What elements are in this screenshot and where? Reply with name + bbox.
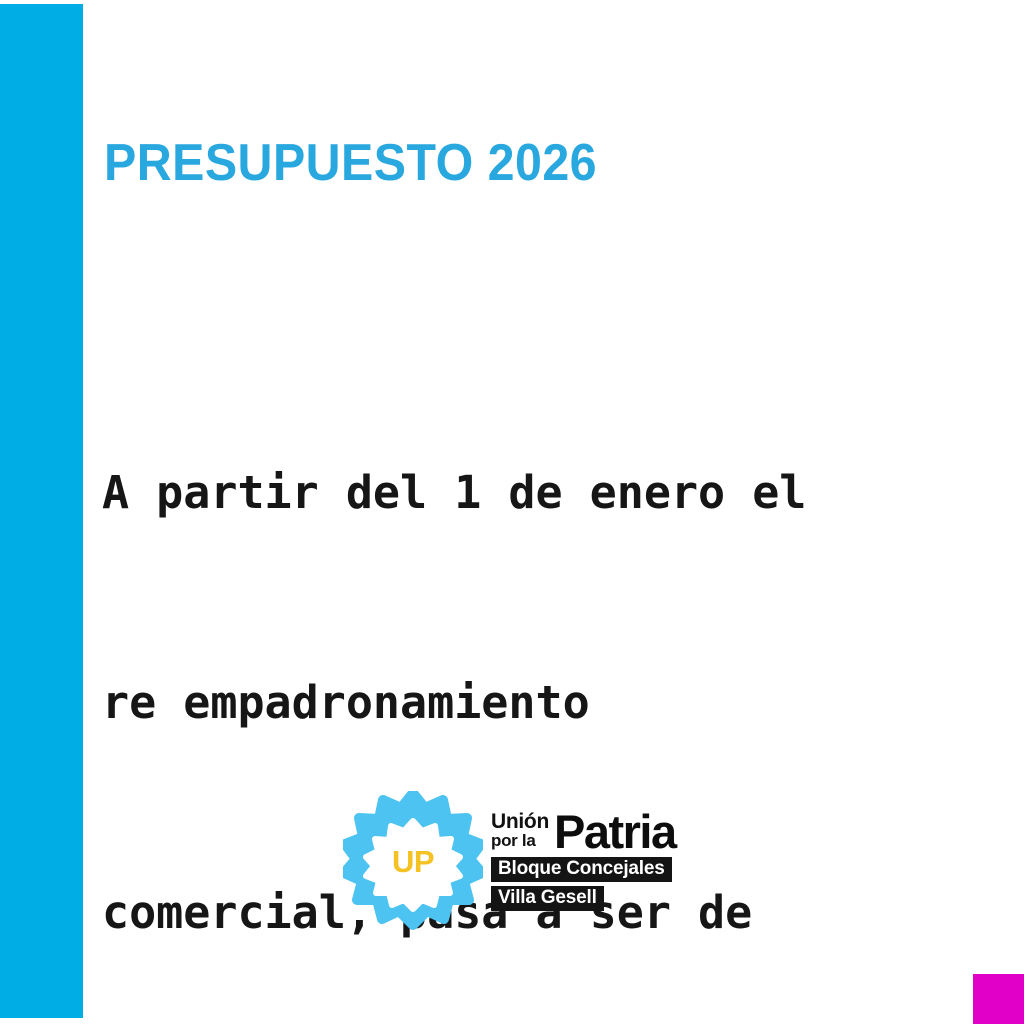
- page-title: PRESUPUESTO 2026: [104, 137, 597, 189]
- poster-canvas: PRESUPUESTO 2026 A partir del 1 de enero…: [0, 0, 1024, 1024]
- wordmark-top-row: Unión por la Patria: [491, 811, 676, 853]
- villa-gesell-bar: Villa Gesell: [491, 886, 604, 911]
- up-initials: UP: [343, 792, 483, 932]
- magenta-corner-block: [973, 974, 1024, 1024]
- union-word: Unión: [491, 812, 549, 832]
- por-la-word: por la: [491, 832, 536, 850]
- union-por-la-patria-wordmark: Unión por la Patria Bloque Concejales Vi…: [491, 811, 676, 911]
- body-line-1: A partir del 1 de enero el: [102, 458, 942, 528]
- bloque-concejales-bar: Bloque Concejales: [491, 857, 672, 882]
- left-accent-bar: [0, 4, 83, 1018]
- up-sunburst-icon: UP: [343, 791, 483, 931]
- patria-word: Patria: [554, 811, 676, 853]
- union-por-la-stack: Unión por la: [491, 812, 549, 853]
- logo-lockup: UP Unión por la Patria Bloque Concejales…: [343, 783, 693, 938]
- body-line-2: re empadronamiento: [102, 668, 942, 738]
